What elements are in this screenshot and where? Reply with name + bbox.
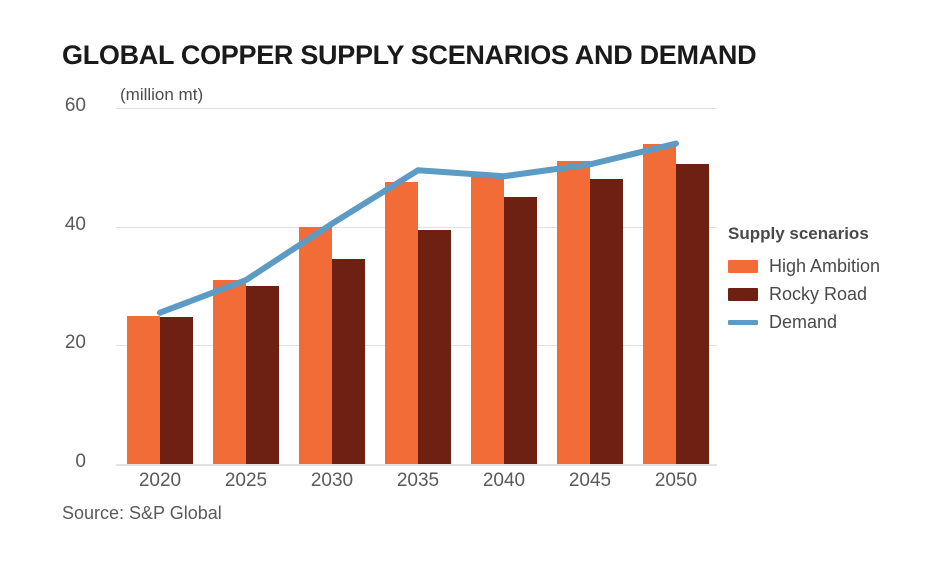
legend-label: High Ambition (769, 256, 880, 277)
legend-item-high-ambition[interactable]: High Ambition (728, 256, 880, 277)
source-note: Source: S&P Global (62, 503, 222, 524)
bar-rocky-road-2020[interactable] (160, 317, 193, 464)
bar-rocky-road-2050[interactable] (676, 164, 709, 464)
bar-rocky-road-2045[interactable] (590, 179, 623, 464)
bar-rocky-road-2025[interactable] (246, 286, 279, 464)
y-axis-tick: 0 (26, 451, 86, 473)
y-axis-tick: 60 (26, 95, 86, 117)
bar-rocky-road-2030[interactable] (332, 259, 365, 464)
legend-item-rocky-road[interactable]: Rocky Road (728, 284, 880, 305)
bar-high-ambition-2020[interactable] (127, 316, 160, 464)
x-axis-tick: 2020 (117, 470, 203, 492)
legend: Supply scenarios High AmbitionRocky Road… (728, 224, 880, 340)
legend-label: Demand (769, 312, 837, 333)
x-axis-tick: 2050 (633, 470, 719, 492)
bar-high-ambition-2025[interactable] (213, 280, 246, 464)
y-axis-tick: 20 (26, 332, 86, 354)
x-axis-tick: 2030 (289, 470, 375, 492)
y-axis-tick: 40 (26, 214, 86, 236)
axis-baseline (116, 464, 717, 466)
x-axis-tick: 2045 (547, 470, 633, 492)
legend-swatch-icon (728, 320, 758, 325)
bar-high-ambition-2050[interactable] (643, 144, 676, 464)
chart-root: GLOBAL COPPER SUPPLY SCENARIOS AND DEMAN… (0, 0, 948, 565)
x-axis-tick: 2040 (461, 470, 547, 492)
legend-item-demand[interactable]: Demand (728, 312, 880, 333)
bar-rocky-road-2035[interactable] (418, 230, 451, 464)
gridline (116, 108, 717, 109)
bar-rocky-road-2040[interactable] (504, 197, 537, 464)
bar-high-ambition-2035[interactable] (385, 182, 418, 464)
bar-high-ambition-2045[interactable] (557, 161, 590, 464)
bar-high-ambition-2030[interactable] (299, 227, 332, 464)
legend-rows: High AmbitionRocky RoadDemand (728, 256, 880, 333)
bar-high-ambition-2040[interactable] (471, 176, 504, 464)
legend-label: Rocky Road (769, 284, 867, 305)
legend-title: Supply scenarios (728, 224, 880, 244)
x-axis-tick: 2035 (375, 470, 461, 492)
x-axis-tick: 2025 (203, 470, 289, 492)
legend-swatch-icon (728, 288, 758, 301)
legend-swatch-icon (728, 260, 758, 273)
